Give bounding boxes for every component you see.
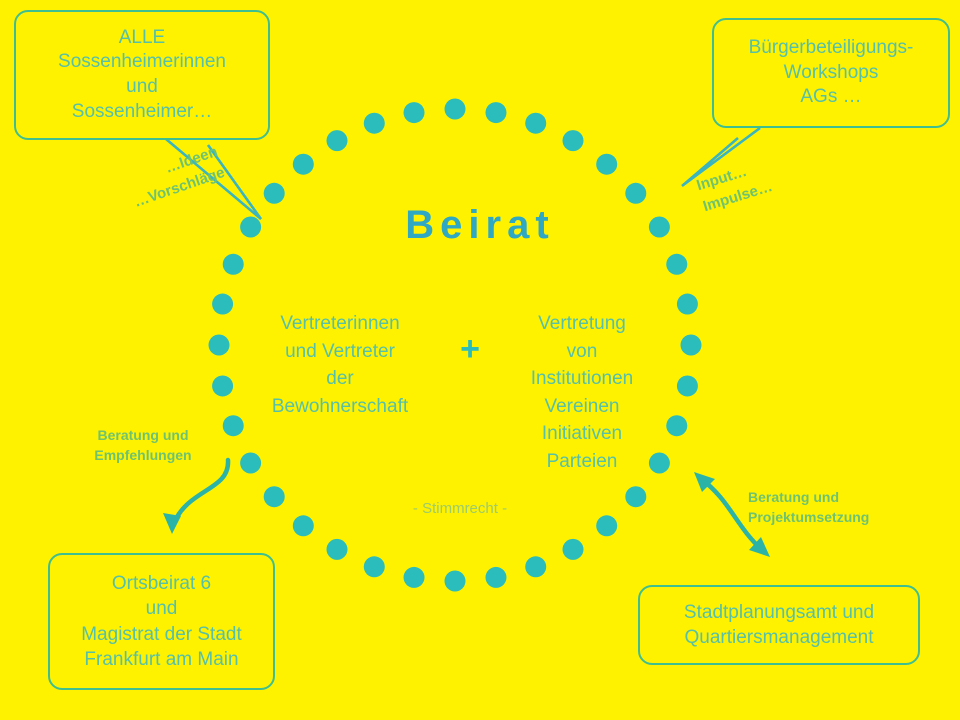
ring-dot (404, 567, 425, 588)
speech-bubble-citizens[interactable]: ALLE Sossenheimerinnen und Sossenheimer… (14, 10, 270, 140)
diagram-title: Beirat (0, 203, 960, 248)
box-line: Stadtplanungsamt und (684, 600, 874, 625)
ring-dot (445, 99, 466, 120)
center-column-institutions: Vertretung von Institutionen Vereinen In… (482, 310, 682, 475)
box-stadtplanungsamt[interactable]: Stadtplanungsamt und Quartiersmanagement (638, 585, 920, 665)
ring-dot (666, 254, 687, 275)
column-line: Initiativen (482, 420, 682, 448)
box-line: und (146, 596, 178, 621)
ring-dot (596, 515, 617, 536)
ring-dot (563, 130, 584, 151)
speech-bubble-workshops[interactable]: Bürgerbeteiligungs- Workshops AGs … (712, 18, 950, 128)
bubble-line: ALLE (119, 26, 165, 51)
ring-dot (625, 183, 646, 204)
center-column-residents: Vertreterinnen und Vertreter der Bewohne… (240, 310, 440, 420)
column-line: Vertreterinnen (240, 310, 440, 338)
column-line: Bewohnerschaft (240, 393, 440, 421)
ring-dot (485, 102, 506, 123)
box-ortsbeirat[interactable]: Ortsbeirat 6 und Magistrat der Stadt Fra… (48, 553, 275, 690)
bubble-line: AGs … (800, 85, 861, 110)
bubble-line: und (126, 75, 158, 100)
box-line: Quartiersmanagement (684, 625, 873, 650)
ring-dot (445, 571, 466, 592)
annotation-beratung-projektumsetzung: Beratung und Projektumsetzung (748, 487, 908, 528)
annotation-line: Empfehlungen (78, 445, 208, 465)
column-line: Parteien (482, 448, 682, 476)
ring-dot (240, 453, 261, 474)
ring-dot (364, 113, 385, 134)
ring-dot (625, 486, 646, 507)
ring-dot (212, 375, 233, 396)
ring-dot (327, 130, 348, 151)
column-line: Vertretung (482, 310, 682, 338)
ring-dot (681, 335, 702, 356)
box-line: Ortsbeirat 6 (112, 571, 211, 596)
ring-dot (264, 183, 285, 204)
annotation-line: Projektumsetzung (748, 507, 908, 527)
annotation-beratung-empfehlungen: Beratung und Empfehlungen (78, 425, 208, 466)
annotation-line: Beratung und (78, 425, 208, 445)
ring-dot (293, 515, 314, 536)
ring-dot (525, 556, 546, 577)
bubble-line: Workshops (784, 61, 879, 86)
ring-dot (264, 486, 285, 507)
ring-dot (485, 567, 506, 588)
column-line: der (240, 365, 440, 393)
bubble-line: Sossenheimer… (72, 100, 212, 125)
ring-dot (327, 539, 348, 560)
column-line: von (482, 338, 682, 366)
bubble-line: Sossenheimerinnen (58, 50, 226, 75)
ring-dot (209, 335, 230, 356)
arrow-beratung-empfehlungen (163, 460, 228, 534)
column-line: und Vertreter (240, 338, 440, 366)
ring-dot (212, 294, 233, 315)
annotation-line: Beratung und (748, 487, 908, 507)
ring-dot (293, 154, 314, 175)
column-line: Institutionen (482, 365, 682, 393)
diagram-canvas: ALLE Sossenheimerinnen und Sossenheimer…… (0, 0, 960, 720)
box-line: Magistrat der Stadt (81, 622, 242, 647)
ring-dot (404, 102, 425, 123)
ring-dot (525, 113, 546, 134)
bubble-line: Bürgerbeteiligungs- (749, 36, 914, 61)
column-line: Vereinen (482, 393, 682, 421)
voting-rights-note: - Stimmrecht - (330, 500, 590, 517)
ring-dot (364, 556, 385, 577)
ring-dot (223, 254, 244, 275)
ring-dot (596, 154, 617, 175)
box-line: Frankfurt am Main (84, 647, 238, 672)
ring-dot (563, 539, 584, 560)
